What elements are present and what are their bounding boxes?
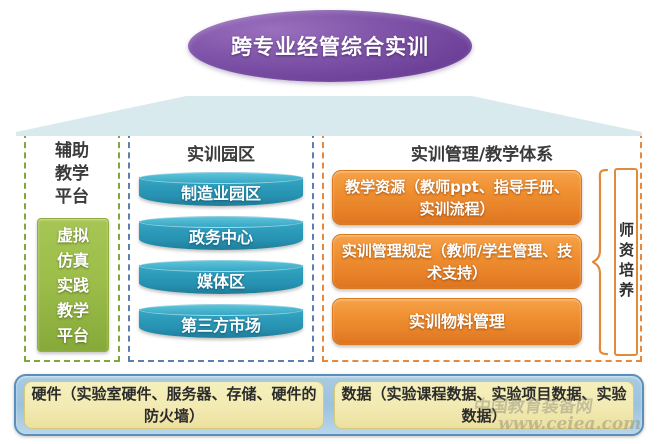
- column-title-line-3: 平台: [26, 186, 118, 209]
- item-virtual-simulation-platform-label: 虚拟 仿真 实践 教学 平台: [57, 223, 89, 348]
- item-training-material-management[interactable]: 实训物料管理: [332, 298, 582, 345]
- item-data[interactable]: 数据（实验课程数据、实验项目数据、实验数据）: [334, 381, 634, 429]
- main-title-ellipse: 跨专业经管综合实训: [188, 10, 472, 82]
- vsp-line-5: 平台: [57, 326, 89, 345]
- infrastructure-bar: 硬件（实验室硬件、服务器、存储、硬件的防火墙） 数据（实验课程数据、实验项目数据…: [14, 374, 644, 436]
- cylinder-item-media-zone[interactable]: 媒体区: [139, 260, 303, 296]
- vsp-line-1: 虚拟: [57, 226, 89, 245]
- orange-box-list: 教学资源（教师ppt、指导手册、实训流程） 实训管理规定（教师/学生管理、技术支…: [332, 170, 582, 354]
- vsp-line-4: 教学: [57, 301, 89, 320]
- item-teaching-resources-label: 教学资源（教师ppt、指导手册、实训流程）: [339, 176, 575, 220]
- cylinder-item-government-center[interactable]: 政务中心: [139, 216, 303, 252]
- item-hardware-label: 硬件（实验室硬件、服务器、存储、硬件的防火墙）: [29, 383, 319, 427]
- item-teaching-resources[interactable]: 教学资源（教师ppt、指导手册、实训流程）: [332, 170, 582, 225]
- item-virtual-simulation-platform[interactable]: 虚拟 仿真 实践 教学 平台: [37, 218, 109, 352]
- item-training-management-rules-label: 实训管理规定（教师/学生管理、技术支持）: [339, 240, 575, 284]
- curly-brace-icon: [592, 168, 610, 356]
- column-auxiliary-teaching-platform: 辅助 教学 平台 虚拟 仿真 实践 教学 平台: [24, 132, 120, 362]
- cylinder-label: 制造业园区: [139, 180, 303, 204]
- vsp-line-2: 仿真: [57, 251, 89, 270]
- column-title-training-management: 实训管理/教学体系: [324, 134, 640, 165]
- column-training-management-system: 实训管理/教学体系 教学资源（教师ppt、指导手册、实训流程） 实训管理规定（教…: [322, 132, 642, 362]
- column-title-line-2: 教学: [26, 163, 118, 186]
- cylinder-label: 媒体区: [139, 268, 303, 292]
- cylinder-label: 第三方市场: [139, 312, 303, 336]
- cylinder-item-manufacturing-park[interactable]: 制造业园区: [139, 172, 303, 208]
- column-title-training-park: 实训园区: [130, 134, 312, 165]
- cylinder-item-third-party-market[interactable]: 第三方市场: [139, 304, 303, 340]
- item-training-management-rules[interactable]: 实训管理规定（教师/学生管理、技术支持）: [332, 234, 582, 289]
- vsp-line-3: 实践: [57, 276, 89, 295]
- diagram-canvas: 跨专业经管综合实训 辅助 教学 平台 虚拟 仿真 实践 教学 平台 实训园区 制…: [0, 0, 658, 444]
- item-training-material-management-label: 实训物料管理: [409, 311, 505, 333]
- main-title-label: 跨专业经管综合实训: [231, 31, 429, 61]
- item-teacher-training-label: 师资培养: [614, 222, 638, 302]
- banner-connector-shape: [16, 88, 642, 136]
- item-data-label: 数据（实验课程数据、实验项目数据、实验数据）: [339, 383, 629, 427]
- item-hardware[interactable]: 硬件（实验室硬件、服务器、存储、硬件的防火墙）: [24, 381, 324, 429]
- item-teacher-training[interactable]: 师资培养: [614, 168, 638, 356]
- column-title-auxiliary: 辅助 教学 平台: [26, 134, 118, 209]
- cylinder-list: 制造业园区 政务中心 媒体区 第三方市场: [139, 172, 303, 348]
- column-training-park: 实训园区 制造业园区 政务中心 媒体区 第三方市场: [128, 132, 314, 362]
- cylinder-label: 政务中心: [139, 224, 303, 248]
- column-title-line-1: 辅助: [26, 140, 118, 163]
